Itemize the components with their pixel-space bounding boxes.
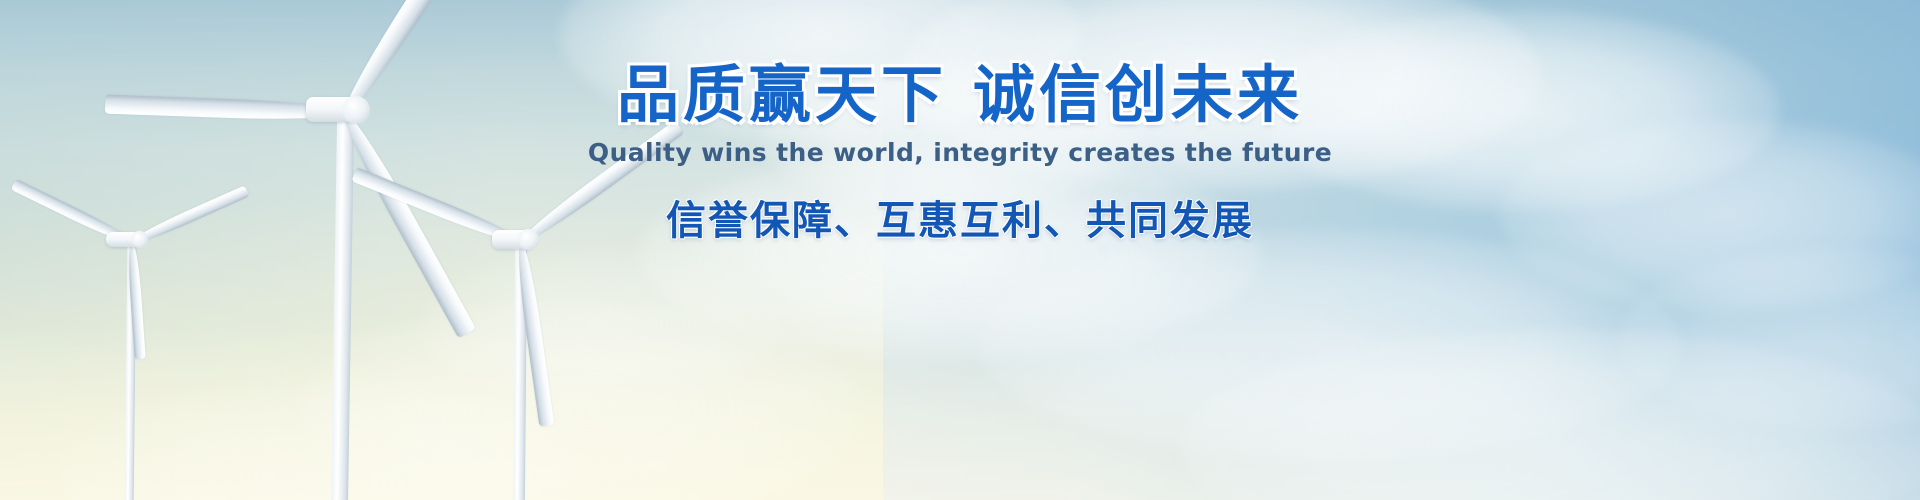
turbine-hub [342, 96, 370, 124]
turbine-hub [131, 231, 148, 248]
horizon-haze [0, 320, 1920, 500]
cloud-shape [760, 60, 1140, 210]
hero-banner: 品质赢天下诚信创未来 Quality wins the world, integ… [0, 0, 1920, 500]
turbine-hub [518, 229, 539, 250]
